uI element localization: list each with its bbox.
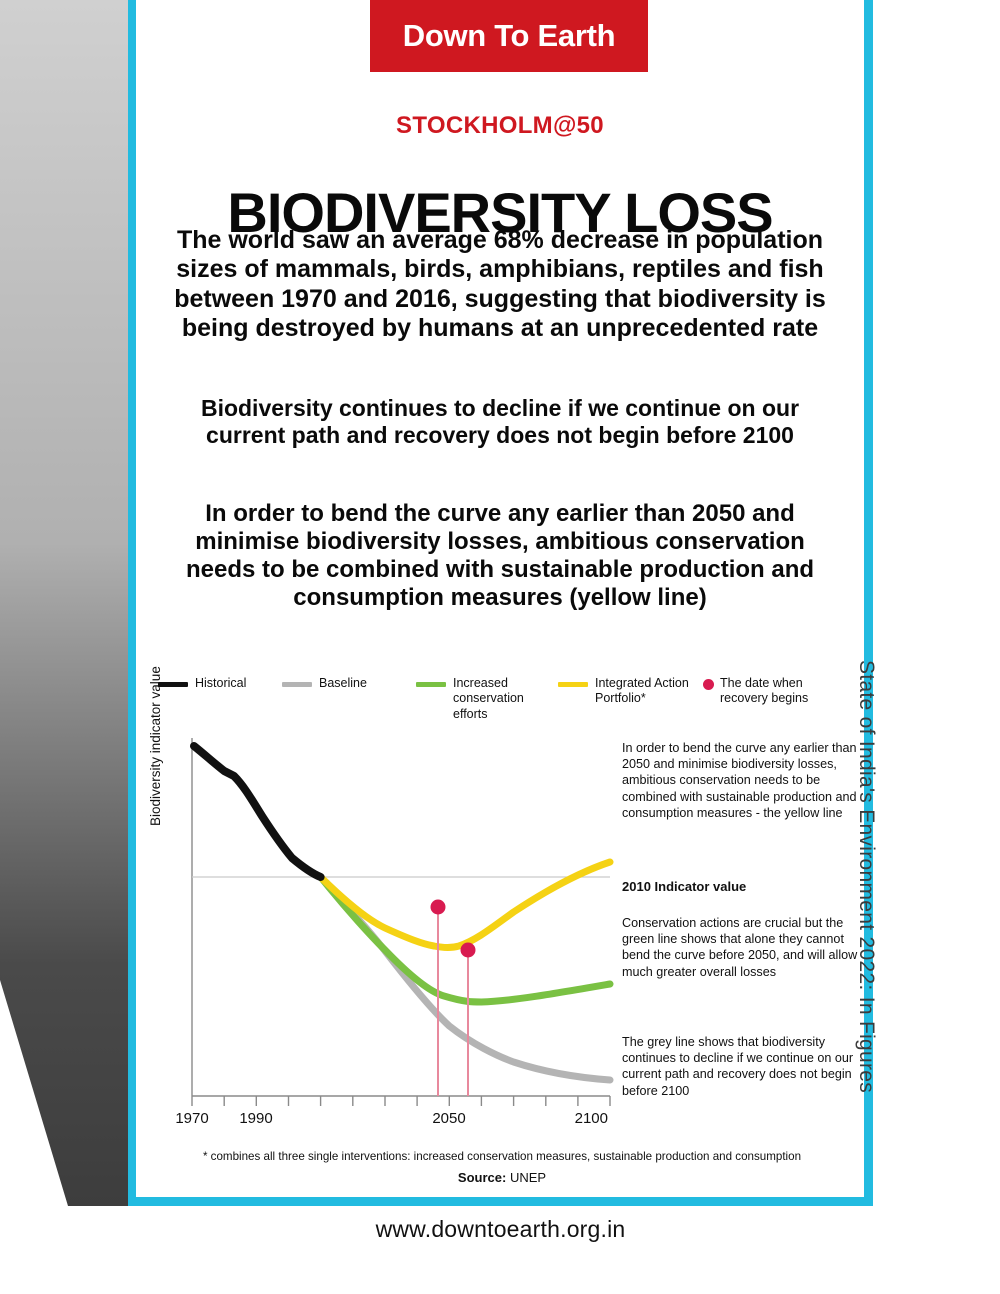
legend-label: Integrated Action Portfolio* <box>595 676 700 707</box>
left-decorative-wedge <box>0 0 136 1206</box>
annotation-grey-line: The grey line shows that biodiversity co… <box>622 1034 866 1099</box>
legend-item-increased-conservation: Increased conservation efforts <box>416 676 558 722</box>
chart-plot-area: Biodiversity indicator value <box>150 734 616 1134</box>
legend-label: Baseline <box>319 676 367 691</box>
masthead-logo: Down To Earth <box>370 0 648 72</box>
series-baseline <box>321 877 610 1080</box>
legend-label: Historical <box>195 676 246 691</box>
source-value: UNEP <box>510 1170 546 1185</box>
legend-line-swatch-icon <box>416 682 446 687</box>
footer-website-url: www.downtoearth.org.in <box>128 1216 873 1243</box>
biodiversity-chart: Historical Baseline Increased conservati… <box>150 672 866 1152</box>
x-axis-tick-labels: 1970 1990 2050 2100 <box>175 1110 608 1127</box>
y-axis-label: Biodiversity indicator value <box>148 666 163 826</box>
legend-label: Increased conservation efforts <box>453 676 558 722</box>
annotation-green-line: Conservation actions are crucial but the… <box>622 915 866 980</box>
x-axis-ticks <box>192 1096 610 1106</box>
x-tick-label: 1990 <box>239 1110 272 1127</box>
intro-paragraph-1: The world saw an average 68% decrease in… <box>172 226 828 343</box>
legend-line-swatch-icon <box>558 682 588 687</box>
recovery-dot-2050 <box>461 943 476 958</box>
chart-footnote: * combines all three single intervention… <box>146 1150 858 1163</box>
legend-item-baseline: Baseline <box>282 676 367 691</box>
intro-paragraph-2: Biodiversity continues to decline if we … <box>172 395 828 449</box>
recovery-dot-2046 <box>431 900 446 915</box>
x-tick-label: 1970 <box>175 1110 208 1127</box>
kicker-stockholm50: STOCKHOLM@50 <box>136 112 864 140</box>
x-tick-label: 2100 <box>575 1110 608 1127</box>
series-increased-conservation <box>321 877 610 1002</box>
masthead-label: Down To Earth <box>403 18 616 54</box>
source-label: Source: <box>458 1170 506 1185</box>
series-historical <box>194 746 321 877</box>
poster-card: Down To Earth STOCKHOLM@50 BIODIVERSITY … <box>128 0 873 1206</box>
legend-dot-swatch-icon <box>703 679 714 690</box>
x-tick-label: 2050 <box>432 1110 465 1127</box>
legend-line-swatch-icon <box>282 682 312 687</box>
chart-svg: 1970 1990 2050 2100 <box>172 734 616 1134</box>
annotation-yellow-line: In order to bend the curve any earlier t… <box>622 740 866 821</box>
series-integrated-action-portfolio <box>321 862 610 948</box>
legend-item-historical: Historical <box>158 676 246 691</box>
chart-source: Source: UNEP <box>146 1170 858 1185</box>
legend-item-recovery-date: The date when recovery begins <box>703 676 825 707</box>
annotation-2010-indicator-value: 2010 Indicator value <box>622 879 866 896</box>
legend-item-integrated-action-portfolio: Integrated Action Portfolio* <box>558 676 700 707</box>
intro-paragraph-3: In order to bend the curve any earlier t… <box>172 500 828 612</box>
side-caption: State of India's Environment 2022: In Fi… <box>854 660 878 1093</box>
chart-legend: Historical Baseline Increased conservati… <box>158 672 864 732</box>
legend-label: The date when recovery begins <box>720 676 825 707</box>
